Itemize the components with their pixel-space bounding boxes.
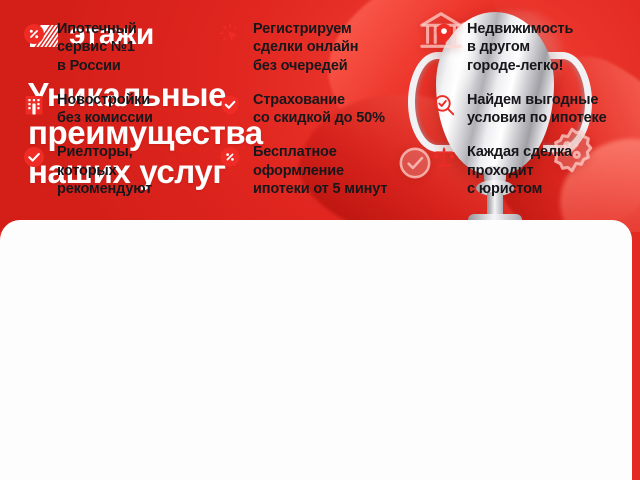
location-pin-icon: [432, 21, 456, 47]
benefit-item: Найдем выгодные условия по ипотеке: [432, 91, 640, 128]
click-cursor-icon: [218, 21, 242, 47]
benefit-text: Риелторы, которых рекомендуют: [57, 143, 152, 198]
benefit-text: Найдем выгодные условия по ипотеке: [467, 91, 607, 128]
percent-circle-icon: [22, 21, 46, 47]
benefit-text: Недвижимость в другом городе-легко!: [467, 20, 573, 75]
benefits-column-2: Регистрируем сделки онлайн без очередей …: [218, 20, 432, 214]
search-check-icon: [432, 92, 456, 118]
justice-scales-icon: [432, 144, 456, 170]
benefit-text: Регистрируем сделки онлайн без очередей: [253, 20, 358, 75]
benefits-column-3: Недвижимость в другом городе-легко! Найд…: [432, 20, 640, 214]
shield-check-icon: [218, 92, 242, 118]
benefit-text: Бесплатное оформление ипотеки от 5 минут: [253, 143, 387, 198]
benefits-column-1: Ипотечный сервис №1 в России: [0, 20, 218, 214]
benefit-item: Каждая сделка проходит с юристом: [432, 143, 640, 198]
benefit-item: Ипотечный сервис №1 в России: [22, 20, 218, 75]
benefit-item: Недвижимость в другом городе-легко!: [432, 20, 640, 75]
benefit-text: Новостройки без комиссии: [57, 91, 153, 128]
benefit-item: Риелторы, которых рекомендуют: [22, 143, 218, 198]
promo-banner: этажи Уникальные преимущества наших услу…: [0, 0, 640, 480]
benefit-text: Страхование со скидкой до 50%: [253, 91, 385, 128]
new-building-icon: [22, 92, 46, 118]
benefit-item: Регистрируем сделки онлайн без очередей: [218, 20, 432, 75]
benefit-item: Страхование со скидкой до 50%: [218, 91, 432, 128]
benefit-item: Бесплатное оформление ипотеки от 5 минут: [218, 143, 432, 198]
benefits-card: [0, 220, 632, 480]
check-circle-icon: [22, 144, 46, 170]
benefit-item: Новостройки без комиссии: [22, 91, 218, 128]
percent-badge-icon: [218, 144, 242, 170]
benefit-text: Каждая сделка проходит с юристом: [467, 143, 572, 198]
benefits-columns: Ипотечный сервис №1 в России: [0, 20, 632, 214]
benefit-text: Ипотечный сервис №1 в России: [57, 20, 137, 75]
